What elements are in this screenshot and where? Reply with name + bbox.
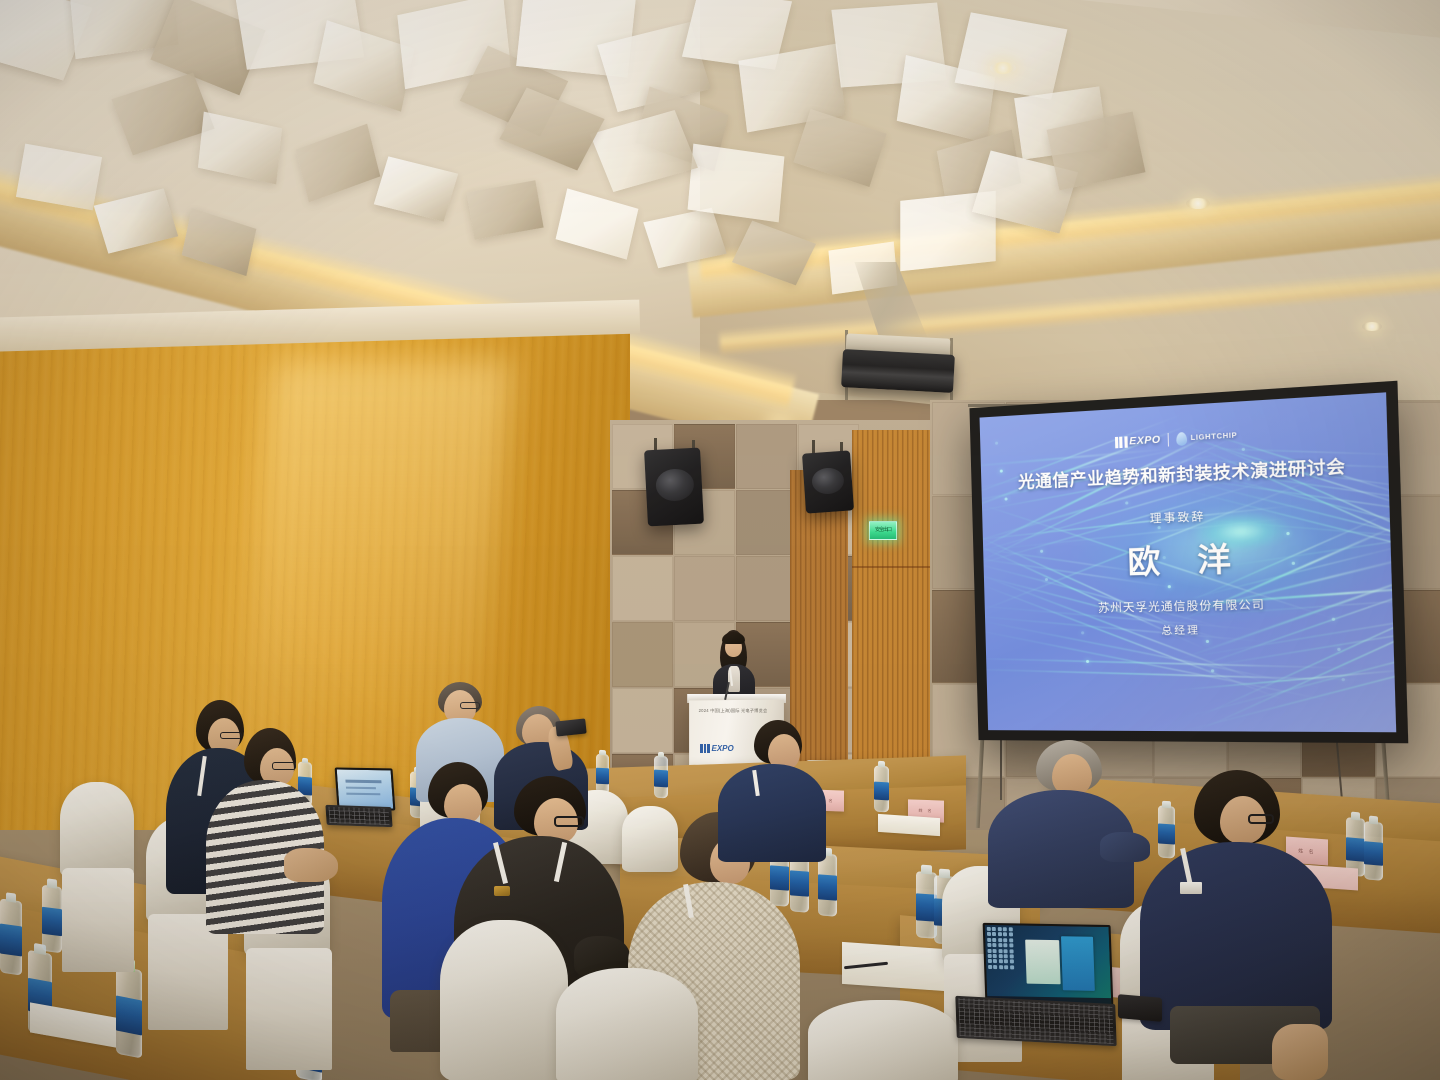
chair-back-1-skirt	[62, 868, 134, 972]
slide-speaker-name: 欧 洋	[1113, 532, 1246, 583]
downlight-1	[990, 62, 1016, 74]
attendee-front-2-glasses-icon	[554, 816, 584, 827]
wall-panel-tile	[674, 556, 735, 621]
chair-back-1	[60, 782, 134, 878]
laptop-window-light[interactable]	[1025, 940, 1061, 985]
bottle-label	[116, 995, 142, 1035]
sponsor-logo-text: LIGHTCHIP	[1190, 432, 1237, 442]
speaker-hair-front	[722, 632, 745, 644]
chair-back-3-skirt	[246, 948, 332, 1070]
sponsor-logo-mark-icon	[1176, 432, 1187, 446]
bottle-label	[818, 874, 837, 900]
wall-panel-tile	[736, 556, 797, 621]
speaker-right-cone	[811, 467, 845, 495]
chair-front-2	[556, 968, 698, 1080]
laptop-foreground-screen[interactable]	[983, 923, 1114, 1007]
wall-speaker-left	[644, 448, 704, 527]
bottle-cap	[1369, 816, 1378, 824]
water-bottle	[116, 965, 142, 1058]
exit-sign-label: 安全出口	[875, 528, 891, 533]
water-bottle	[1364, 821, 1383, 881]
projection-screen[interactable]: EXPO LIGHTCHIP 光通信产业趋势和新封装技术演进研讨会 理事致辞 欧…	[969, 381, 1408, 744]
wall-panel-tile	[736, 424, 797, 489]
ceiling-panel	[688, 144, 785, 223]
ai-logo-bars-icon	[1114, 436, 1127, 448]
logo-divider	[1168, 433, 1169, 447]
door-seam-line	[852, 566, 930, 568]
attendee-front-2-logo-patch	[494, 886, 510, 896]
name-card-4-text: 姓 名	[918, 808, 933, 815]
wall-panel-tile	[612, 556, 673, 621]
attendee-right-1	[718, 720, 830, 860]
bottle-label	[874, 781, 889, 800]
attendee-right-3-glasses-icon	[1248, 814, 1274, 824]
attendee-center-1-glasses-icon	[460, 702, 480, 709]
chair-front-3	[808, 1000, 958, 1080]
slide-title: 光通信产业趋势和新封装技术演进研讨会	[1018, 452, 1346, 493]
bottle-cap	[921, 865, 931, 874]
bottle-label	[654, 770, 668, 788]
bottle-label	[42, 907, 62, 936]
wallet-on-table	[1118, 994, 1162, 1022]
laptop-foreground-keyboard[interactable]	[958, 998, 1113, 1044]
attendee-right-1-shirt	[718, 764, 826, 862]
wall-panel-tile	[612, 688, 673, 753]
water-bottle	[42, 885, 62, 953]
bottle-label	[1364, 841, 1383, 866]
slide-company: 苏州天孚光通信股份有限公司	[1098, 595, 1266, 615]
exit-sign: 安全出口	[869, 521, 897, 540]
podium-banner-text: 2024 中国(上海)国际 光电子博览会	[692, 708, 774, 714]
attendee-right-2	[988, 740, 1138, 910]
bottle-cap	[599, 750, 605, 756]
bottle-label	[0, 924, 22, 957]
conference-room-photo: 安全出口 EXPO	[0, 0, 1440, 1080]
ai-expo-logo: EXPO	[1114, 434, 1160, 448]
wall-speaker-right	[802, 450, 854, 513]
bottle-cap	[6, 892, 17, 903]
attendee-right-3-badge	[1180, 882, 1202, 894]
laptop-foreground-base[interactable]	[955, 996, 1116, 1047]
downlight-7	[1362, 322, 1382, 331]
laptop-desktop-icons	[987, 927, 1014, 969]
laptop-window-blue[interactable]	[1061, 936, 1095, 991]
speaker-left-cone	[655, 468, 695, 502]
laptop-foreground-display	[985, 925, 1112, 1005]
water-bottle	[818, 853, 837, 916]
smartphone-held[interactable]	[555, 718, 586, 736]
slide-content: EXPO LIGHTCHIP 光通信产业趋势和新封装技术演进研讨会 理事致辞 欧…	[980, 392, 1397, 732]
wall-panel-tile	[612, 622, 673, 687]
bottle-cap	[1351, 812, 1360, 820]
laptop-left-keyboard[interactable]	[329, 807, 390, 825]
attendee-left-2-glasses-icon	[272, 762, 296, 770]
slide-position: 总经理	[1161, 621, 1200, 637]
projection-screen-surface: EXPO LIGHTCHIP 光通信产业趋势和新封装技术演进研讨会 理事致辞 欧…	[980, 392, 1397, 732]
water-bottle	[654, 756, 668, 799]
podium-logo-bars-icon	[700, 744, 710, 753]
attendee-right-3	[1140, 770, 1340, 1080]
slide-logo-row: EXPO LIGHTCHIP	[1114, 429, 1237, 449]
slide-role-label: 理事致辞	[1150, 508, 1206, 527]
chair-front-1	[440, 920, 568, 1080]
ceiling-projector	[841, 349, 955, 393]
bottle-cap	[878, 761, 885, 767]
downlight-2	[1186, 198, 1210, 209]
attendee-right-3-leg	[1272, 1024, 1328, 1080]
bottle-cap	[658, 752, 665, 758]
attendee-left-2-arm	[284, 848, 338, 882]
bottle-cap	[939, 869, 949, 879]
attendee-left-2	[214, 728, 334, 938]
secondary-sponsor-logo: LIGHTCHIP	[1176, 429, 1237, 446]
bottle-cap	[47, 879, 57, 889]
ai-expo-logo-text: EXPO	[1129, 434, 1161, 447]
water-bottle	[0, 898, 22, 975]
water-bottle	[874, 766, 889, 813]
wall-panel-tile	[736, 490, 797, 555]
bottle-label	[1346, 837, 1365, 862]
attendee-right-3-polo	[1140, 842, 1332, 1030]
